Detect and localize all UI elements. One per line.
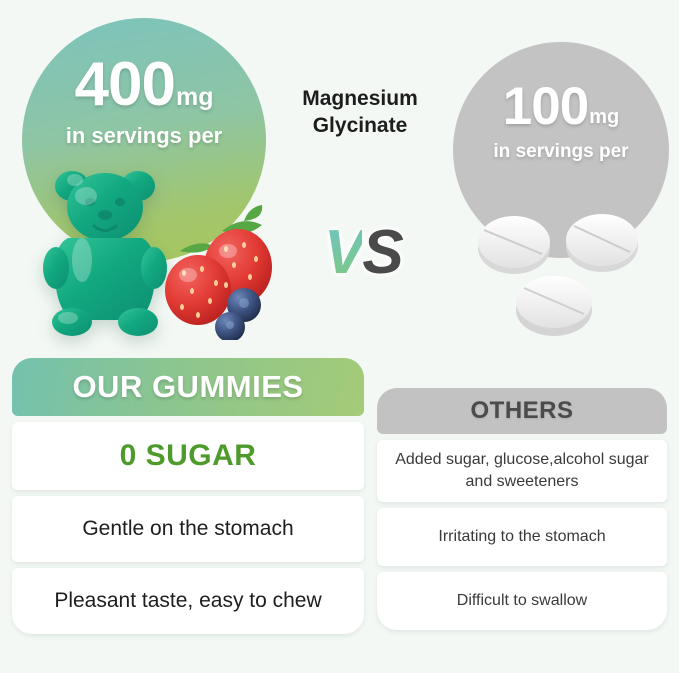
others-row-1: Irritating to the stomach [377, 508, 667, 566]
comparison-column-ours: OUR GUMMIES 0 SUGAR Gentle on the stomac… [12, 358, 364, 634]
ours-row-2: Pleasant taste, easy to chew [12, 568, 364, 634]
ours-dose-text: 400 mg in servings per [22, 54, 266, 147]
others-dose-amount: 100 [503, 80, 588, 133]
versus-badge: VS [324, 222, 401, 284]
versus-v: V [324, 218, 362, 287]
others-row-2-label: Difficult to swallow [457, 592, 587, 610]
others-row-0: Added sugar, glucose,alcohol sugar and s… [377, 440, 667, 502]
hero-section: 400 mg in servings per 100 mg in serving… [0, 0, 679, 350]
comparison-column-others: OTHERS Added sugar, glucose,alcohol suga… [377, 388, 667, 630]
others-row-0-label: Added sugar, glucose,alcohol sugar and s… [391, 449, 653, 492]
ours-row-2-label: Pleasant taste, easy to chew [54, 589, 321, 613]
infographic-root: 400 mg in servings per 100 mg in serving… [0, 0, 679, 673]
ours-dose-amount: 400 [75, 54, 175, 116]
ours-row-0: 0 SUGAR [12, 422, 364, 490]
ours-dose-unit: mg [176, 85, 214, 116]
pills-image [462, 200, 660, 340]
ours-dose-sublabel: in servings per [22, 125, 266, 147]
berries-image [160, 205, 282, 340]
others-dose-sublabel: in servings per [453, 142, 669, 161]
product-title-line1: Magnesium [272, 86, 448, 113]
others-row-1-label: Irritating to the stomach [438, 528, 605, 546]
ours-row-1: Gentle on the stomach [12, 496, 364, 562]
ours-dose-row: 400 mg [22, 54, 266, 116]
others-column-header: OTHERS [377, 388, 667, 434]
versus-s: S [362, 218, 400, 287]
others-row-2: Difficult to swallow [377, 572, 667, 630]
others-dose-unit: mg [589, 107, 619, 133]
ours-row-0-label: 0 SUGAR [120, 439, 257, 473]
ours-column-header: OUR GUMMIES [12, 358, 364, 416]
product-title-line2: Glycinate [272, 113, 448, 140]
ours-row-1-label: Gentle on the stomach [82, 517, 293, 541]
product-title: Magnesium Glycinate [272, 86, 448, 140]
gummy-bear-image [42, 160, 168, 338]
others-dose-row: 100 mg [453, 80, 669, 133]
others-dose-text: 100 mg in servings per [453, 80, 669, 161]
